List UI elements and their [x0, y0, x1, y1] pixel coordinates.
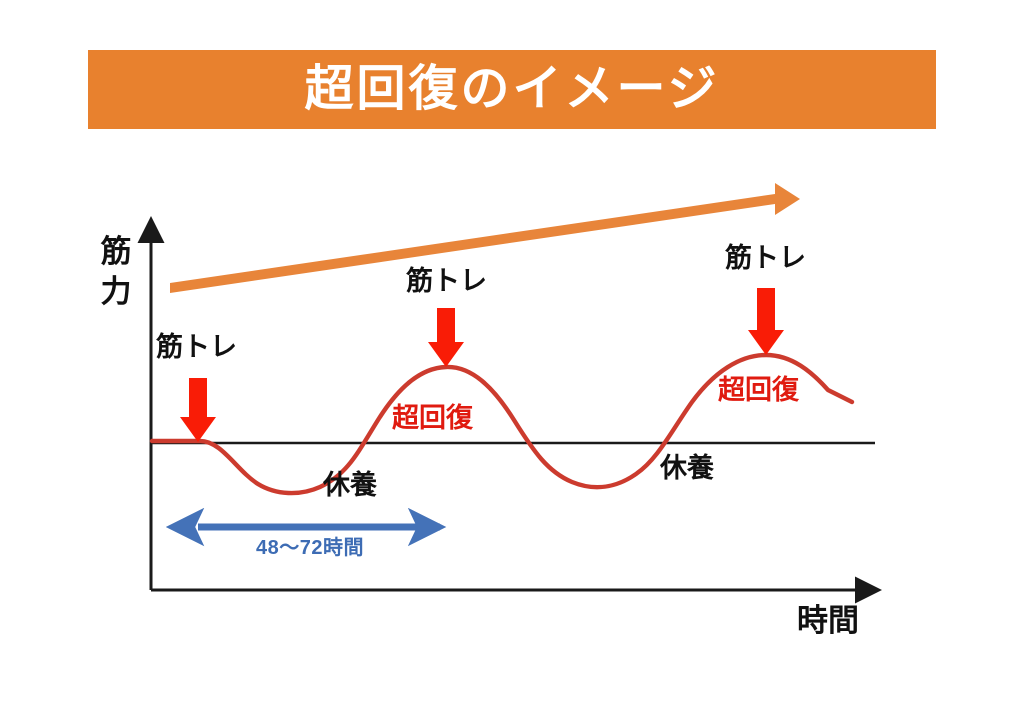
training-label-1: 筋トレ	[156, 334, 237, 361]
training-label-2: 筋トレ	[406, 268, 487, 295]
supercompensation-label-2: 超回復	[718, 377, 799, 404]
training-label-3: 筋トレ	[725, 245, 806, 272]
x-axis-label: 時間	[797, 605, 859, 636]
rest-label-1: 休養	[323, 472, 377, 499]
training-arrow-2	[428, 308, 464, 367]
rest-label-2: 休養	[660, 455, 714, 482]
training-arrow-1	[180, 378, 216, 442]
rest-duration-label: 48〜72時間	[256, 538, 364, 558]
supercompensation-label-1: 超回復	[392, 405, 473, 432]
training-arrow-3	[748, 288, 784, 355]
supercompensation-diagram	[0, 0, 1016, 705]
y-axis-label: 筋力	[96, 232, 136, 311]
slide-canvas: 超回復のイメージ	[0, 0, 1016, 705]
